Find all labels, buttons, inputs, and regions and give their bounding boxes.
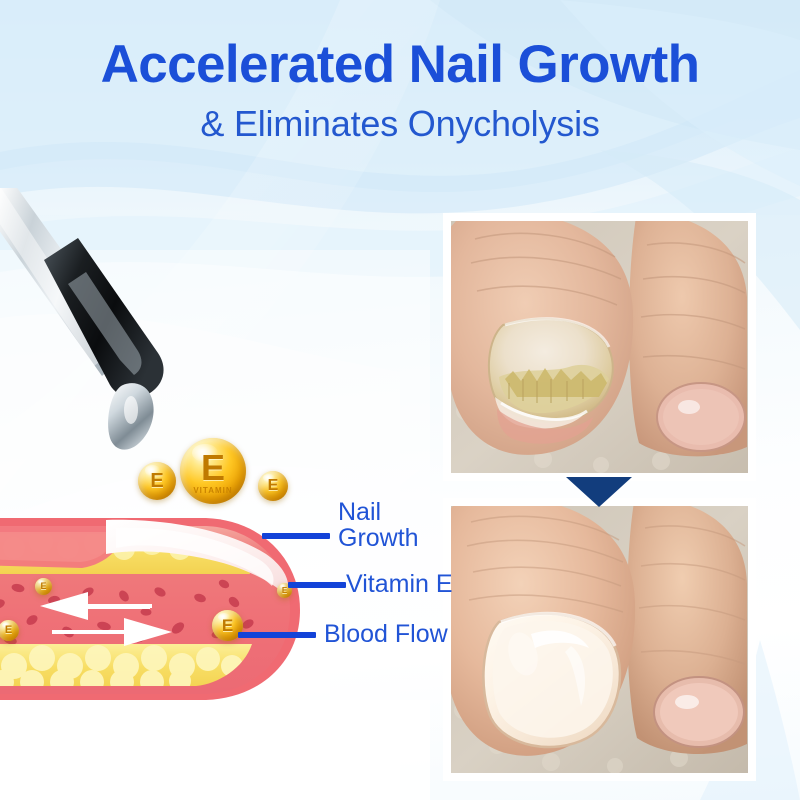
capsule-large-center: E VITAMIN bbox=[180, 438, 246, 504]
advertisement-canvas: Accelerated Nail Growth & Eliminates Ony… bbox=[0, 0, 800, 800]
capsule-small-left: E bbox=[138, 462, 176, 500]
photo-before-image bbox=[451, 221, 748, 473]
capsule-letter: E bbox=[40, 582, 46, 591]
capsule-letter: E bbox=[282, 587, 287, 595]
capsule-letter: E bbox=[201, 450, 225, 486]
capsule-letter: E bbox=[5, 625, 12, 636]
page-title: Accelerated Nail Growth bbox=[0, 38, 800, 92]
page-subtitle: & Eliminates Onycholysis bbox=[0, 103, 800, 145]
callout-vitamin-e-label: Vitamin E bbox=[346, 572, 453, 598]
callout-leader-line bbox=[238, 632, 316, 638]
photo-after-image bbox=[451, 506, 748, 773]
callout-blood-flow-label: Blood Flow bbox=[324, 622, 448, 648]
capsule-small-right: E bbox=[258, 471, 288, 501]
header: Accelerated Nail Growth & Eliminates Ony… bbox=[0, 38, 800, 145]
capsule-word: VITAMIN bbox=[180, 486, 246, 495]
callout-leader-line bbox=[288, 582, 346, 588]
capsule-in-tissue-1: E bbox=[35, 578, 52, 595]
callout-blood-flow: Blood Flow bbox=[238, 622, 448, 648]
callout-leader-line bbox=[262, 533, 330, 539]
nail-polish-brush-icon bbox=[0, 188, 212, 478]
before-after-arrow-icon bbox=[566, 477, 632, 507]
callout-vitamin-e: Vitamin E bbox=[288, 572, 453, 598]
photo-before-damaged-toenail bbox=[443, 213, 756, 481]
capsule-letter: E bbox=[150, 471, 163, 491]
photo-after-healthy-toenail bbox=[443, 498, 756, 781]
capsule-letter: E bbox=[268, 478, 279, 494]
capsule-letter: E bbox=[222, 617, 233, 634]
callout-nail-growth-label: Nail Growth bbox=[338, 500, 419, 551]
callout-nail-growth: Nail Growth bbox=[262, 500, 419, 551]
